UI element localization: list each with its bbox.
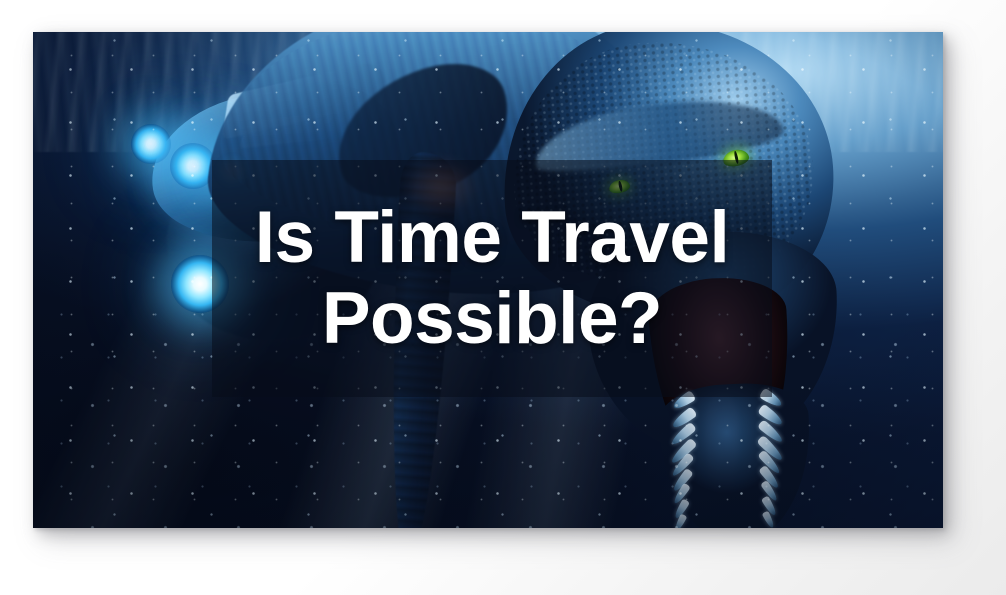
page-root: Is Time Travel Possible? xyxy=(0,0,1006,595)
title-line-2: Possible? xyxy=(322,279,662,359)
title-line-1: Is Time Travel xyxy=(255,198,730,278)
title-overlay-band: Is Time Travel Possible? xyxy=(212,160,772,397)
video-thumbnail[interactable]: Is Time Travel Possible? xyxy=(33,32,943,528)
